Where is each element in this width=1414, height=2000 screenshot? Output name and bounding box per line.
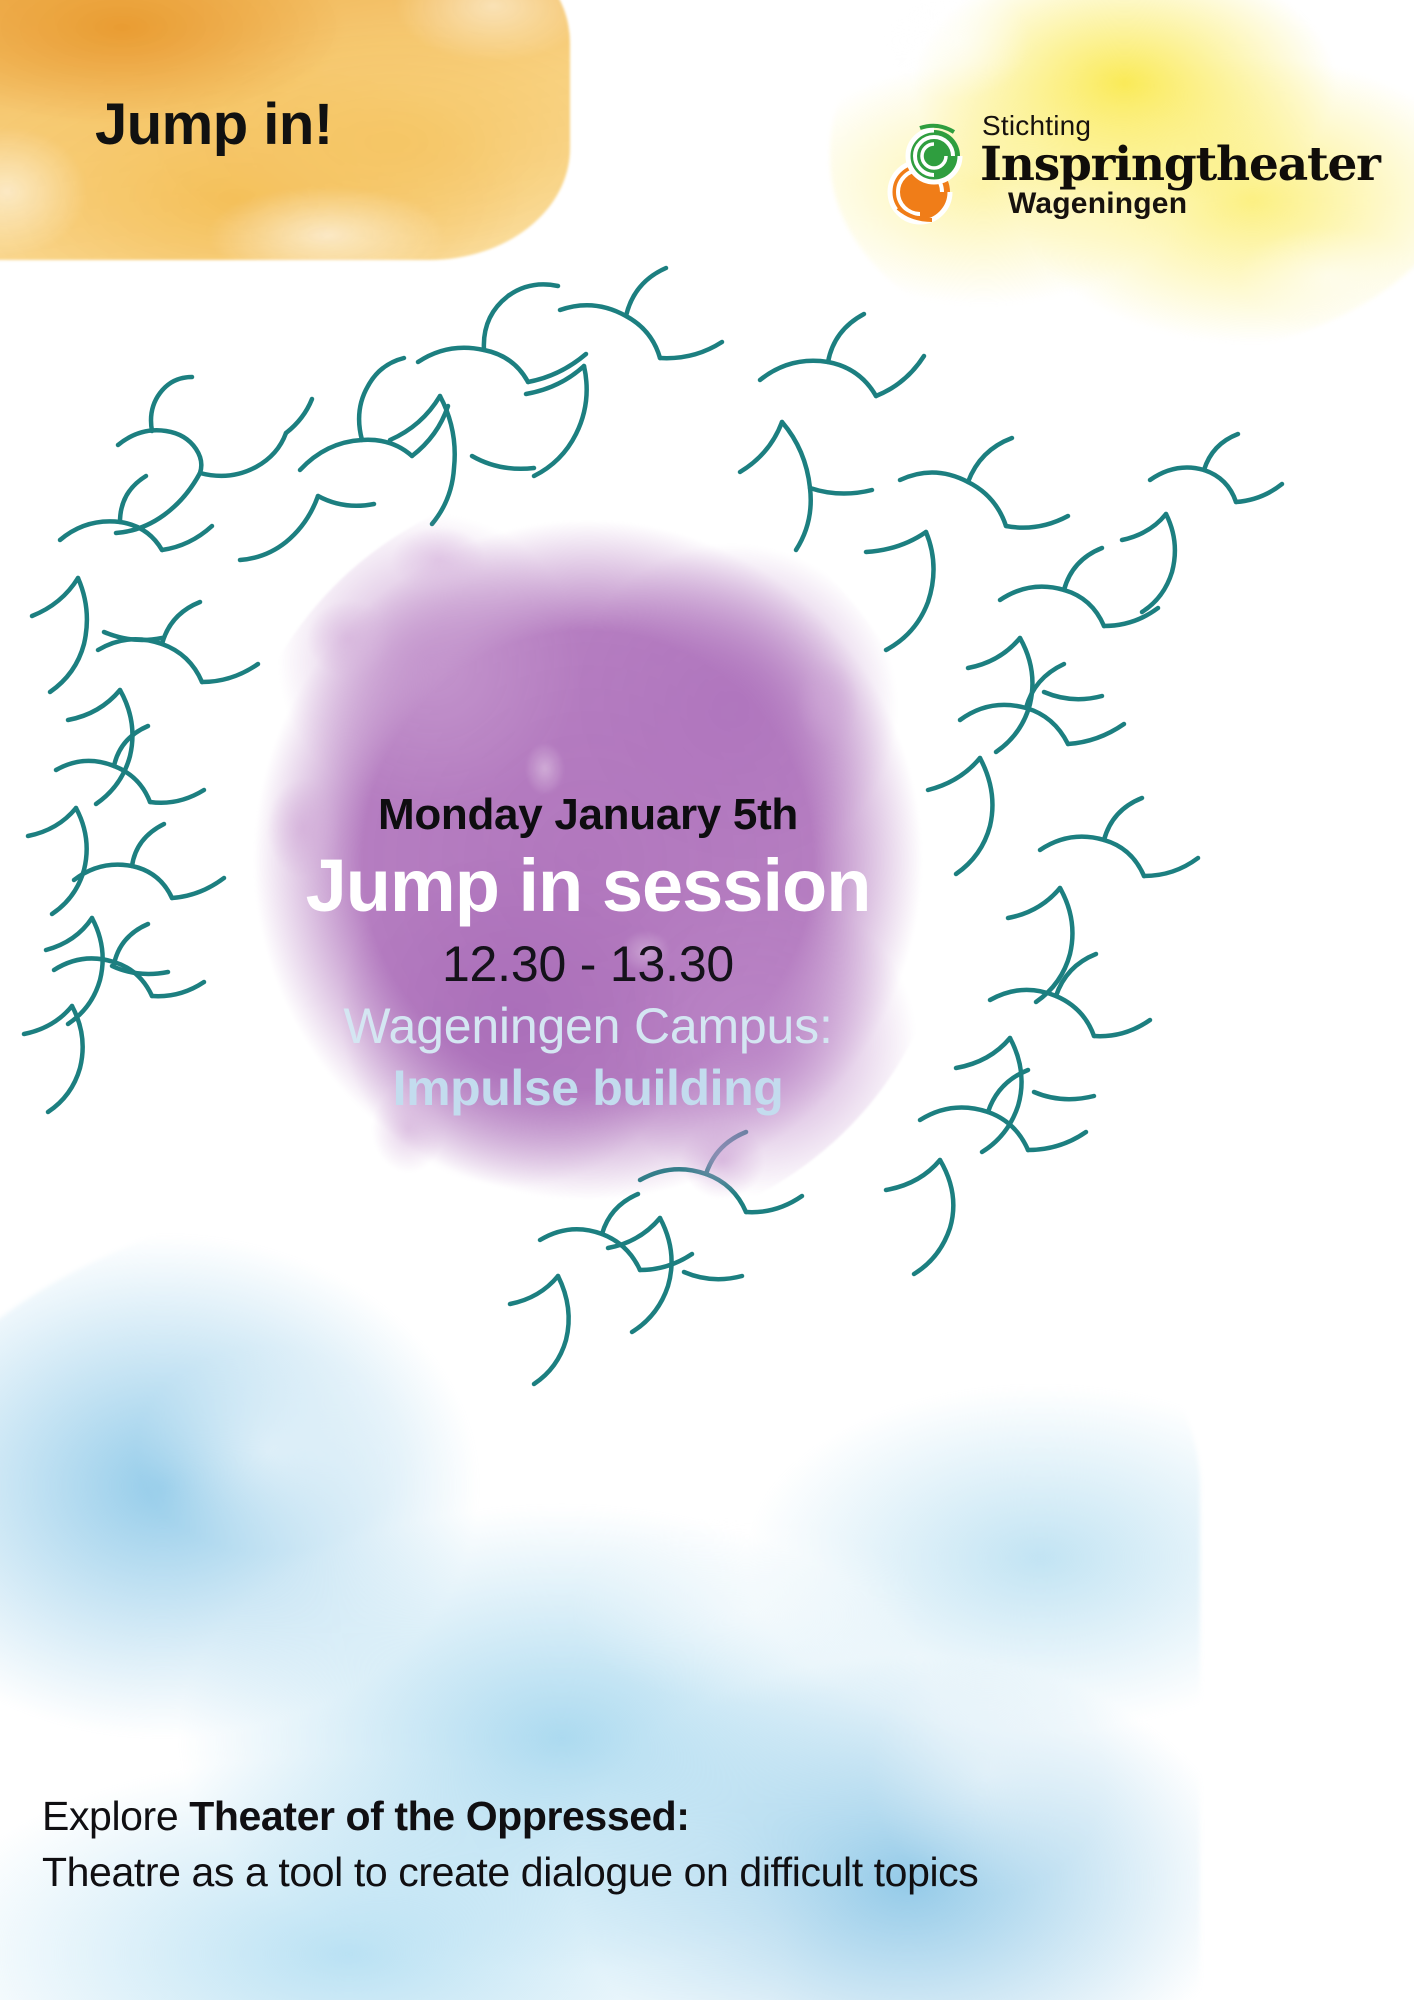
event-building: Impulse building [228,1058,948,1118]
event-title: Jump in session [228,845,948,928]
figure-top-left-1 [116,377,312,533]
footer-line-2: Theatre as a tool to create dialogue on … [42,1846,1372,1898]
spiral-swirl-icon [880,112,976,230]
footer-explore-label: Explore [42,1793,189,1839]
event-date: Monday January 5th [228,790,948,839]
figure-left-4 [46,824,224,1024]
footer-line-1: Explore Theater of the Oppressed: [42,1790,1372,1842]
event-time: 12.30 - 13.30 [228,934,948,994]
footer-theater-of-the-oppressed-label: Theater of the Oppressed: [189,1793,689,1839]
poster-canvas: Jump in! Stichting Inspringtheater Wagen… [0,0,1414,2000]
organization-logo: Stichting Inspringtheater Wageningen [880,108,1380,230]
logo-line-stichting: Stichting [982,112,1380,140]
figure-left-3 [28,726,204,914]
event-details-block: Monday January 5th Jump in session 12.30… [228,790,948,1118]
footer-description: Explore Theater of the Oppressed: Theatr… [42,1790,1372,1899]
jump-in-heading: Jump in! [95,96,333,154]
figure-right-1 [968,548,1158,752]
event-venue: Wageningen Campus: [228,996,948,1056]
figure-top-right-2 [866,438,1068,650]
figure-top-far-right [1122,434,1282,612]
figure-right-3 [1008,798,1198,1002]
logo-line-wageningen: Wageningen [1008,189,1380,219]
logo-text-block: Stichting Inspringtheater Wageningen [982,108,1380,219]
figure-bottom-left-1 [24,924,204,1112]
logo-line-inspringtheater: Inspringtheater [980,141,1380,188]
